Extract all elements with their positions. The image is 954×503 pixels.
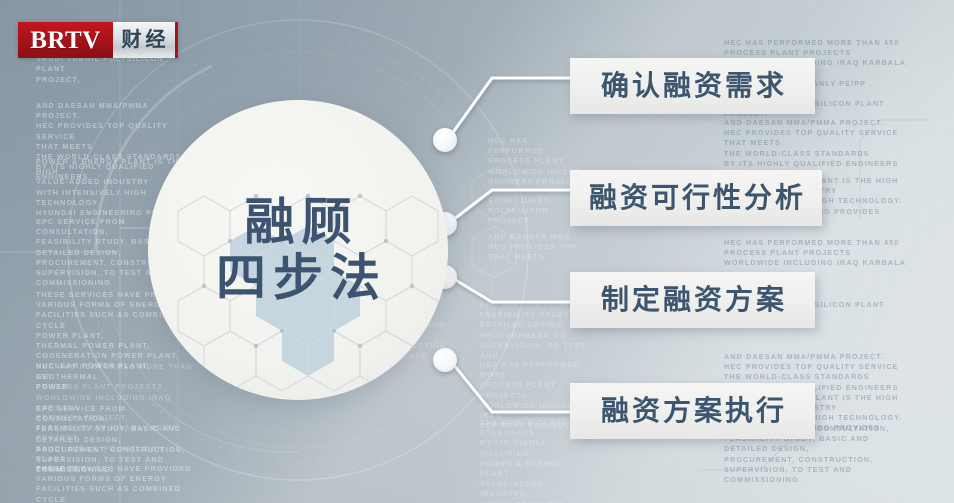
channel-logo-brtv-text: BRTV	[30, 28, 101, 53]
channel-logo: BRTV 财经	[18, 22, 178, 58]
center-circle: 融顾 四步法	[148, 100, 448, 400]
step-label-2: 融资可行性分析	[586, 184, 806, 212]
step-box-4[interactable]: 融资方案执行	[570, 383, 815, 439]
channel-logo-subchannel: 财经	[113, 22, 178, 58]
step-label-1: 确认融资需求	[598, 72, 787, 100]
center-badge: 融顾 四步法	[148, 100, 448, 400]
step-label-3: 制定融资方案	[598, 286, 787, 314]
channel-logo-brtv: BRTV	[18, 22, 113, 58]
step-label-4: 融资方案执行	[598, 397, 787, 425]
broadcast-graphic-slide: PROJECT, SAUDI JUBAIL POLYSILICON PLANT …	[0, 0, 954, 503]
channel-logo-subchannel-text: 财经	[119, 30, 170, 50]
step-box-3[interactable]: 制定融资方案	[570, 272, 815, 328]
step-box-1[interactable]: 确认融资需求	[570, 58, 815, 114]
step-box-2[interactable]: 融资可行性分析	[570, 170, 822, 226]
hexagon-pattern	[148, 100, 448, 400]
